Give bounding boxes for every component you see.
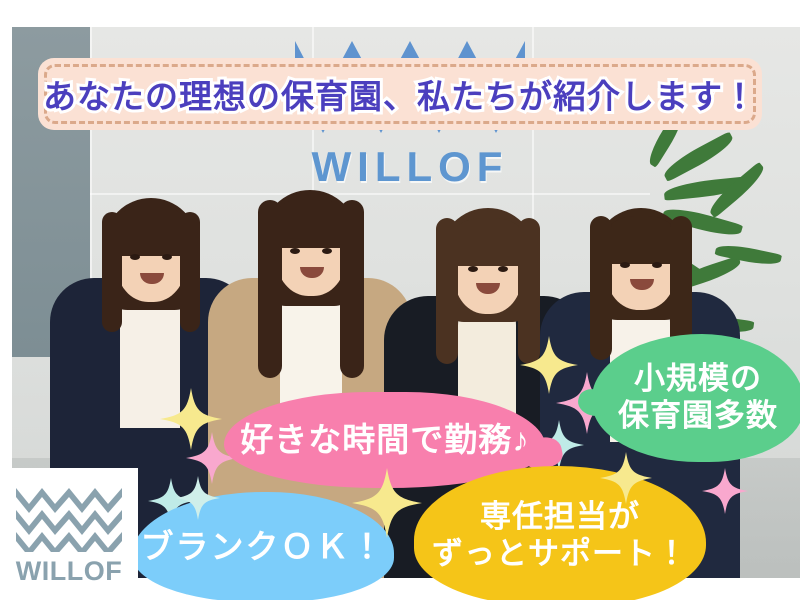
flexible-hours-bubble-line-1: 好きな時間で勤務♪ (240, 421, 530, 460)
small-nursery-bubble-line-2: 保育園多数 (618, 398, 778, 435)
person-3-eye-left (468, 266, 478, 272)
person-1-hair-side-l (102, 212, 122, 332)
blank-ok-bubble-line-1: ブランクＯＫ！ (141, 528, 386, 567)
person-2-eye-right (322, 248, 332, 254)
person-2-hair-long-l (258, 200, 282, 378)
person-1-eye-left (130, 254, 140, 260)
dedicated-support-bubble-line-1: 専任担当が (432, 499, 688, 536)
sparkle-yellow-mid (352, 468, 422, 538)
person-2-hair-long-r (340, 200, 364, 378)
small-nursery-bubble[interactable]: 小規模の 保育園多数 (592, 334, 800, 462)
headline-text: あなたの理想の保育園、私たちが紹介します！ (43, 70, 757, 118)
sparkle-cyan-top (176, 476, 220, 520)
willof-zigzag-icon (16, 486, 122, 552)
person-4-eye-left (620, 262, 630, 268)
dedicated-support-bubble-line-2: ずっとサポート！ (432, 536, 688, 573)
job-ad-banner: WILLOF (0, 0, 800, 600)
headline-banner: あなたの理想の保育園、私たちが紹介します！ (38, 58, 762, 130)
person-4-hair-side-l (590, 216, 612, 360)
person-4-eye-right (652, 262, 662, 268)
person-1-eye-right (162, 254, 172, 260)
willof-wordmark: WILLOF (16, 556, 122, 587)
person-3-hair-side-l (436, 218, 458, 364)
person-2-eye-left (290, 248, 300, 254)
sparkle-pink-far (702, 468, 748, 514)
small-nursery-bubble-line-1: 小規模の (618, 361, 778, 398)
person-1-hair-side-r (180, 212, 200, 332)
person-3-eye-right (498, 266, 508, 272)
willof-logo[interactable]: WILLOF (0, 468, 138, 600)
sparkle-yellow-bottom (600, 452, 652, 504)
